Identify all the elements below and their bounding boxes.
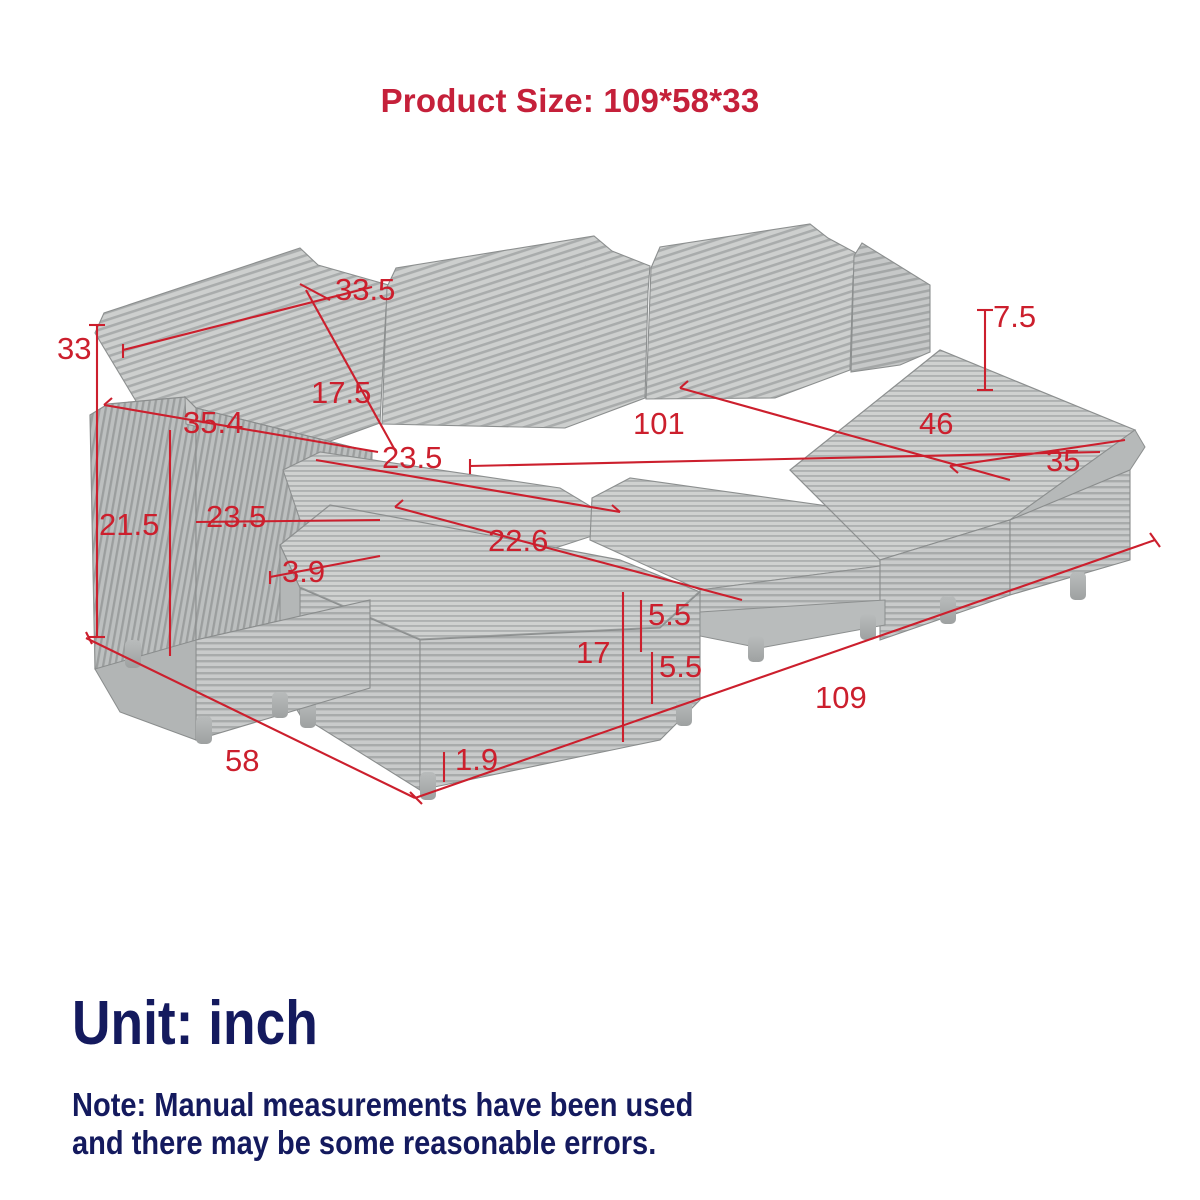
dim-label-ottoman-width-22-6: 22.6 bbox=[488, 523, 548, 558]
dim-label-height-33: 33 bbox=[57, 331, 91, 366]
dim-label-depth-58: 58 bbox=[225, 743, 259, 778]
dim-label-foot-1-9: 1.9 bbox=[455, 742, 498, 777]
dim-label-arm-depth-35-4: 35.4 bbox=[183, 405, 243, 440]
dim-label-back-width-33-5: 33.5 bbox=[335, 272, 395, 307]
note-line-2: and there may be some reasonable errors. bbox=[72, 1124, 693, 1162]
unit-text: Unit: inch bbox=[72, 992, 318, 1056]
diagram-page: Product Size: 109*58*33 bbox=[0, 0, 1200, 1200]
back-cushion-far-right bbox=[851, 243, 930, 372]
note-text: Note: Manual measurements have been used… bbox=[72, 1086, 693, 1162]
dim-label-arm-height-21-5: 21.5 bbox=[99, 507, 159, 542]
dim-label-back-rise-7-5: 7.5 bbox=[993, 299, 1036, 334]
dim-label-back-height-17-5: 17.5 bbox=[311, 375, 371, 410]
dim-label-ottoman-upper-5-5: 5.5 bbox=[648, 597, 691, 632]
dim-label-ottoman-depth-23-5: 23.5 bbox=[206, 499, 266, 534]
note-line-1: Note: Manual measurements have been used bbox=[72, 1086, 693, 1124]
dim-label-ottoman-lower-5-5: 5.5 bbox=[659, 649, 702, 684]
dim-label-chaise-width-46: 46 bbox=[919, 406, 953, 441]
dim-label-ottoman-height-17: 17 bbox=[576, 635, 610, 670]
dim-label-chaise-depth-35: 35 bbox=[1046, 443, 1080, 478]
dim-label-seat-length-101: 101 bbox=[633, 406, 685, 441]
dim-label-width-109: 109 bbox=[815, 680, 867, 715]
back-cushion-right bbox=[646, 224, 856, 399]
dim-label-seat-depth-23-5: 23.5 bbox=[382, 440, 442, 475]
dim-label-seat-floor-3-9: 3.9 bbox=[282, 554, 325, 589]
back-cushion-middle bbox=[382, 236, 650, 428]
